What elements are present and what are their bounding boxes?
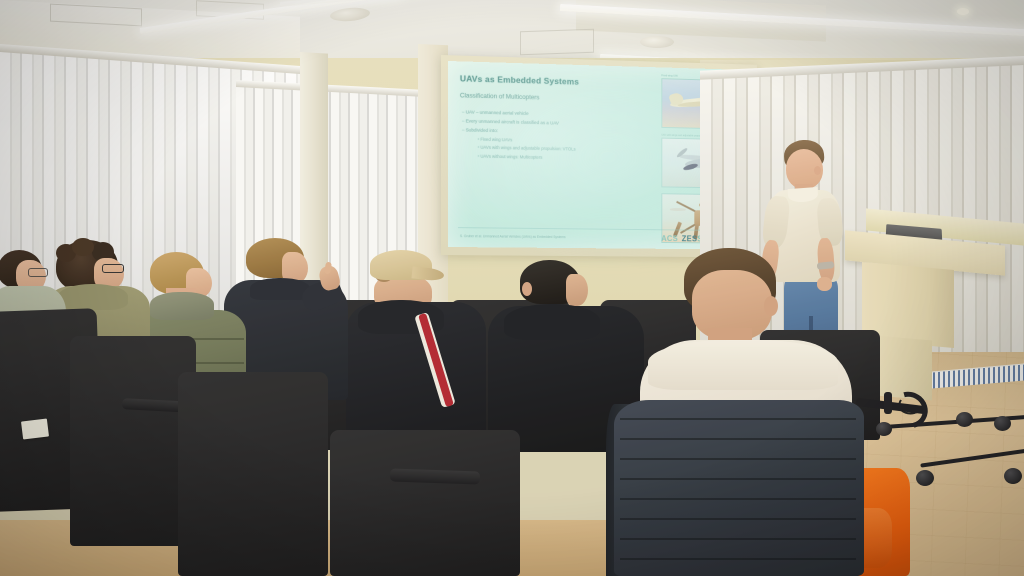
sweater-shoulders [648,340,838,390]
chair[interactable] [330,430,520,576]
presenter-ear [814,166,821,175]
face [566,274,588,306]
lecture-hall-photo: UAVs as Embedded Systems Classification … [0,0,1024,576]
paper-sheet [21,418,49,439]
acs-logo: ACS [661,234,678,243]
ear [764,296,778,316]
audience-member-with-cap [352,250,482,430]
glasses-icon [102,264,124,273]
slide-footer-text: S. Gruber et al. Unmanned Aerial Vehicle… [460,234,566,239]
navy-puffer-jacket [614,400,864,576]
hood [58,284,128,310]
chair-caster [876,422,892,436]
jacket-collar [150,292,214,320]
ceiling-downlight-icon [957,8,969,15]
ceiling-tile [520,29,594,56]
slide-subtitle: Classification of Multicopters [460,92,540,101]
hair-curl [72,238,94,256]
chair-caster [1004,468,1022,484]
slide-sub-bullet: UAVs without wings: Multicopters [478,152,627,163]
slide-title: UAVs as Embedded Systems [460,73,579,86]
chair-caster [956,412,973,427]
chair[interactable] [178,372,328,576]
chair-caster [994,416,1011,431]
ear [522,282,532,296]
ceiling-speaker-icon [640,36,674,48]
hood [504,304,600,340]
slide-bullet-list: UAV – unmanned aerial vehicle Every unma… [462,108,627,163]
chair-caster [916,470,934,486]
glasses-icon [28,268,48,277]
